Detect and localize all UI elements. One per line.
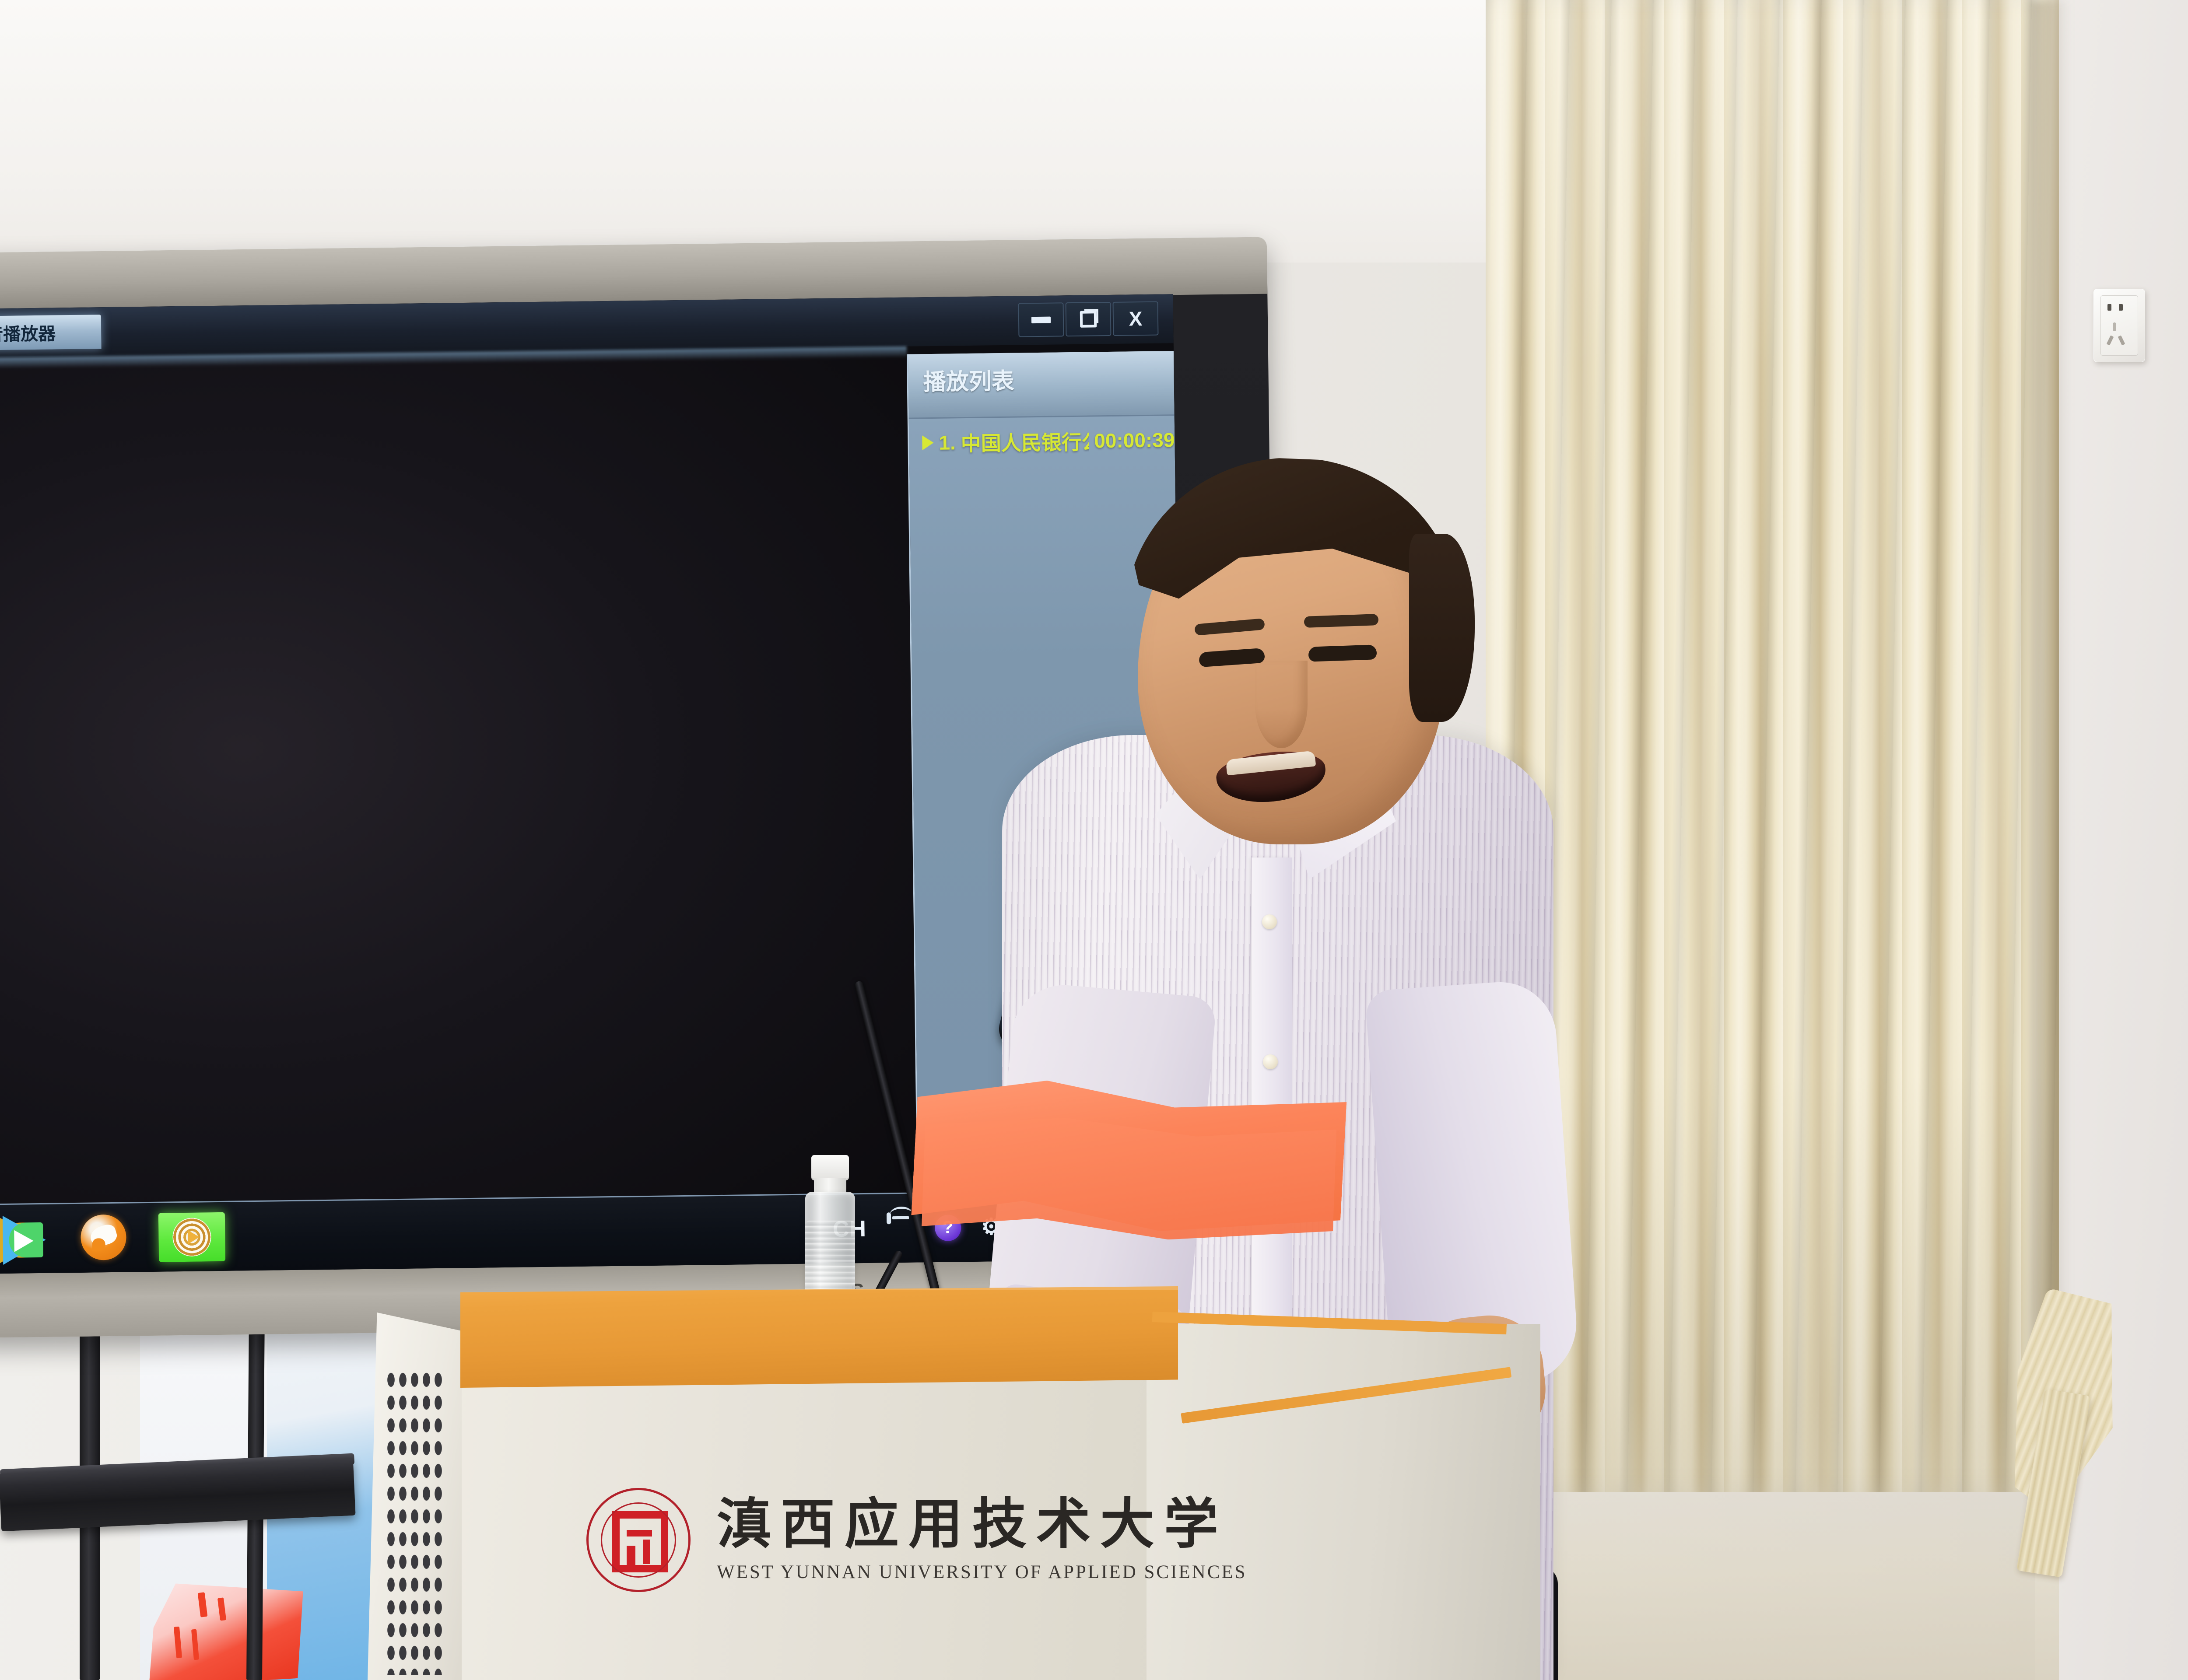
close-button[interactable]: X [1113,301,1159,336]
seal-glyph [612,1511,668,1572]
outlet-hole [2107,335,2114,345]
media-player-tab[interactable]: 影音播放器 [0,315,102,350]
outlet-hole [2113,322,2116,331]
shirt-button [1262,914,1277,929]
podium-university-branding: 滇西应用技术大学 WEST YUNNAN UNIVERSITY OF APPLI… [586,1474,1221,1606]
outlet-hole [2119,304,2123,311]
outlet-faceplate [2100,295,2138,356]
play-marker-icon [922,435,933,450]
outlet-hole [2107,304,2111,311]
hair-side [1409,534,1475,722]
lectern-podium: 滇西应用技术大学 WEST YUNNAN UNIVERSITY OF APPLI… [368,1286,1768,1680]
taskbar-pinned-apps[interactable] [0,1212,225,1264]
curtain-edge-shadow [2030,0,2070,1496]
playlist-item-duration: 00:00:39 [1094,428,1175,452]
upper-left-wall [0,0,1514,262]
maximize-button[interactable] [1066,302,1112,336]
taskbar-item-player[interactable] [3,1215,50,1263]
media-player-icon [172,1218,211,1256]
playlist-item-index: 1. [939,430,956,454]
podium-speaker-grille [385,1368,446,1675]
bottle-cap [811,1155,849,1180]
playlist-item-title: 中国人民银行公益... [961,427,1089,457]
podium-wood-top-rail [460,1286,1178,1388]
lecture-room-scene: S 影音播放器 X [0,0,2188,1680]
minimize-button[interactable] [1018,302,1064,337]
outlet-hole [2118,335,2125,345]
university-name-en: WEST YUNNAN UNIVERSITY OF APPLIED SCIENC… [717,1561,1247,1583]
shirt-button [1263,1054,1278,1069]
eye-right [1308,644,1377,661]
playlist-header: 播放列表 [908,351,1175,419]
wall-power-outlet [2093,289,2145,362]
firefox-icon [81,1214,126,1260]
nose [1255,661,1308,748]
taskbar-item-media-player[interactable] [158,1212,225,1262]
taskbar-item-browser[interactable] [81,1214,128,1262]
podium-name-block: 滇西应用技术大学 WEST YUNNAN UNIVERSITY OF APPLI… [717,1498,1247,1583]
podium-left-panel [368,1312,462,1680]
video-playback-area[interactable] [0,346,917,1233]
keyboard-icon[interactable] [887,1214,915,1242]
bottle-neck [814,1178,846,1193]
university-name-cn: 滇西应用技术大学 [717,1498,1247,1552]
window-controls[interactable]: X [1018,301,1159,337]
playlist-item[interactable]: 1. 中国人民银行公益... 00:00:39 [909,416,1175,457]
play-icon [3,1215,46,1264]
university-seal-icon [586,1488,691,1592]
